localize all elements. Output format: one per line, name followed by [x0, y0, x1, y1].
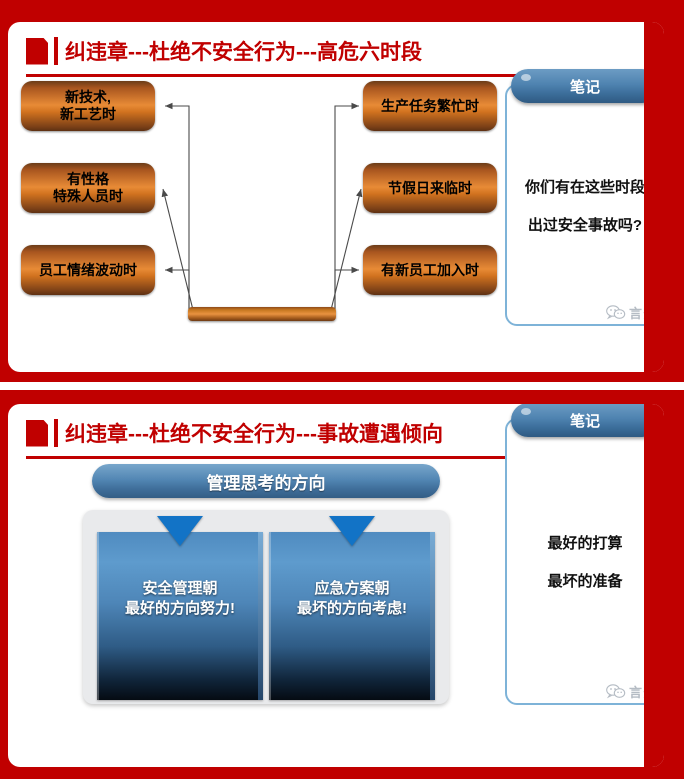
notes-panel-slide2: 笔记 最好的打算 最坏的准备 言安 [505, 418, 664, 705]
pillar-1-line1: 安全管理朝 [142, 580, 217, 597]
slide-high-risk-periods: 纠违章---杜绝不安全行为---高危六时段 [0, 0, 684, 382]
risk-box-right-3-line1: 有新员工加入时 [381, 262, 479, 279]
wechat-icon [606, 305, 626, 320]
slide2-right-rail [644, 404, 664, 767]
pillar-safety-management[interactable]: 安全管理朝 最好的方向努力! [97, 532, 263, 700]
notes-panel-slide1: 笔记 你们有在这些时段 出过安全事故吗? 言安 [505, 84, 664, 326]
risk-box-right-1-line1: 生产任务繁忙时 [381, 98, 479, 115]
flag-icon [26, 38, 48, 65]
slide1-right-rail [644, 22, 664, 372]
down-triangle-icon-1 [157, 516, 203, 546]
flag-icon [26, 420, 48, 447]
risk-box-right-2[interactable]: 节假日来临时 [363, 163, 497, 213]
notes-cap-label: 笔记 [511, 404, 659, 437]
risk-box-right-2-line1: 节假日来临时 [388, 180, 472, 197]
down-triangle-icon-2 [329, 516, 375, 546]
risk-box-right-3[interactable]: 有新员工加入时 [363, 245, 497, 295]
title-divider [54, 37, 58, 65]
pillar-1-line2: 最好的方向努力! [125, 600, 235, 617]
risk-box-left-2-line1: 有性格 [53, 171, 123, 188]
base-bar [188, 307, 336, 321]
wechat-icon [606, 684, 626, 699]
slide2-title: 纠违章---杜绝不安全行为---事故遭遇倾向 [65, 418, 443, 448]
risk-box-left-3[interactable]: 员工情绪波动时 [21, 245, 155, 295]
direction-band: 管理思考的方向 [92, 464, 440, 498]
notes-cap-label: 笔记 [511, 69, 659, 103]
pillar-emergency-plan[interactable]: 应急方案朝 最坏的方向考虑! [269, 532, 435, 700]
slide2-card: 纠违章---杜绝不安全行为---事故遭遇倾向 管理思考的方向 安全管理朝 最好的… [8, 404, 664, 767]
risk-box-left-2-line2: 特殊人员时 [53, 188, 123, 205]
notes-body-slide1: 你们有在这些时段 出过安全事故吗? [507, 112, 663, 298]
notes-line-2: 最坏的准备 [547, 570, 622, 591]
title-divider [54, 419, 58, 447]
notes-line-1: 最好的打算 [547, 532, 622, 553]
pillar-2-line2: 最坏的方向考虑! [297, 600, 407, 617]
risk-box-left-1[interactable]: 新技术, 新工艺时 [21, 81, 155, 131]
notes-body-slide2: 最好的打算 最坏的准备 [507, 446, 663, 677]
risk-box-left-1-line1: 新技术, [60, 89, 116, 106]
pillar-tray: 安全管理朝 最好的方向努力! 应急方案朝 最坏的方向考虑! [83, 510, 449, 704]
pillar-2-line1: 应急方案朝 [314, 580, 389, 597]
risk-box-left-1-line2: 新工艺时 [60, 106, 116, 123]
risk-box-right-1[interactable]: 生产任务繁忙时 [363, 81, 497, 131]
slide1-title-row: 纠违章---杜绝不安全行为---高危六时段 [8, 30, 664, 72]
slide-accident-tendency: 纠违章---杜绝不安全行为---事故遭遇倾向 管理思考的方向 安全管理朝 最好的… [0, 390, 684, 779]
slide1-title: 纠违章---杜绝不安全行为---高危六时段 [65, 36, 422, 66]
slide-deck: 纠违章---杜绝不安全行为---高危六时段 [0, 0, 684, 779]
risk-box-left-3-line1: 员工情绪波动时 [39, 262, 137, 279]
notes-line-2: 出过安全事故吗? [528, 214, 642, 235]
notes-line-1: 你们有在这些时段 [525, 176, 645, 197]
slide1-card: 纠违章---杜绝不安全行为---高危六时段 [8, 22, 664, 372]
risk-box-left-2[interactable]: 有性格 特殊人员时 [21, 163, 155, 213]
